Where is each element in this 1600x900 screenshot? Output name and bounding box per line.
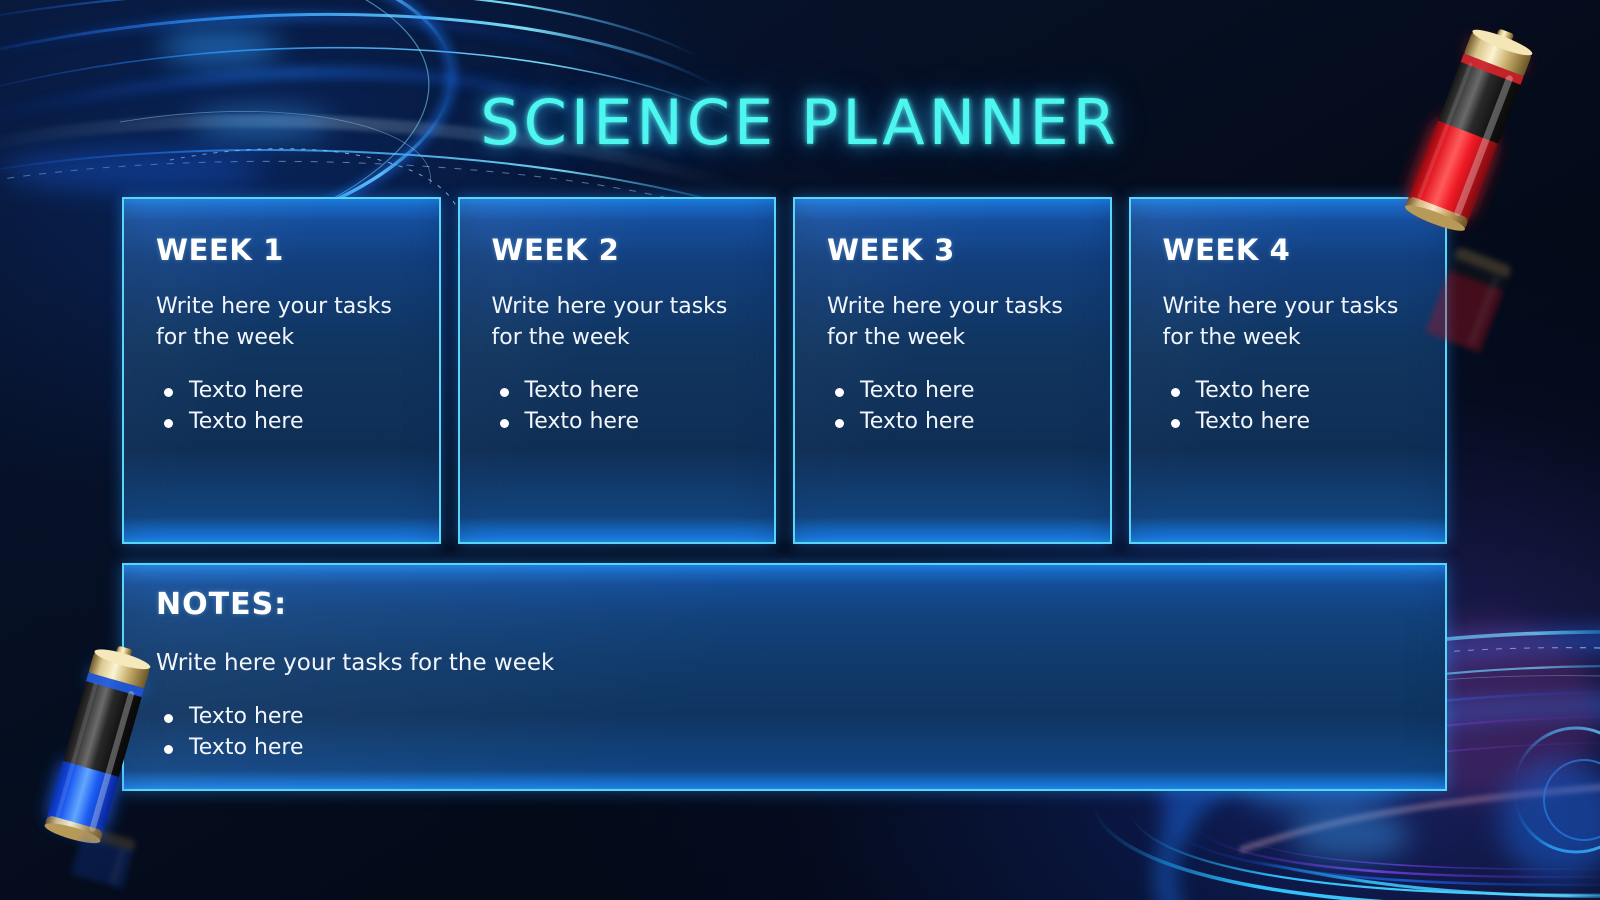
- notes-bullet-list: Texto here Texto here: [156, 701, 1445, 763]
- week-card-1[interactable]: WEEK 1 Write here your tasks for the wee…: [122, 197, 441, 544]
- battery-blue-reflection-icon: [36, 826, 166, 900]
- notes-heading: NOTES:: [156, 587, 1445, 622]
- week-card-bullet-list: Texto here Texto here: [156, 375, 439, 437]
- week-card-bullet-list: Texto here Texto here: [827, 375, 1110, 437]
- list-item[interactable]: Texto here: [156, 375, 439, 406]
- list-item[interactable]: Texto here: [156, 406, 439, 437]
- week-card-2[interactable]: WEEK 2 Write here your tasks for the wee…: [458, 197, 777, 544]
- list-item[interactable]: Texto here: [827, 375, 1110, 406]
- week-cards-row: WEEK 1 Write here your tasks for the wee…: [122, 197, 1447, 544]
- list-item[interactable]: Texto here: [827, 406, 1110, 437]
- list-item[interactable]: Texto here: [156, 732, 1445, 763]
- week-card-heading: WEEK 2: [492, 233, 775, 267]
- week-card-heading: WEEK 3: [827, 233, 1110, 267]
- week-card-body: Write here your tasks for the week: [827, 291, 1095, 353]
- week-card-4[interactable]: WEEK 4 Write here your tasks for the wee…: [1129, 197, 1448, 544]
- week-card-bullet-list: Texto here Texto here: [1163, 375, 1446, 437]
- slide-canvas: SCIENCE PLANNER WEEK 1 Write here your t…: [0, 0, 1600, 900]
- week-card-heading: WEEK 1: [156, 233, 439, 267]
- list-item[interactable]: Texto here: [1163, 375, 1446, 406]
- list-item[interactable]: Texto here: [156, 701, 1445, 732]
- week-card-body: Write here your tasks for the week: [492, 291, 760, 353]
- week-card-bullet-list: Texto here Texto here: [492, 375, 775, 437]
- list-item[interactable]: Texto here: [492, 375, 775, 406]
- notes-body: Write here your tasks for the week: [156, 648, 1445, 679]
- page-title: SCIENCE PLANNER: [0, 86, 1600, 159]
- week-card-body: Write here your tasks for the week: [1163, 291, 1431, 353]
- week-card-3[interactable]: WEEK 3 Write here your tasks for the wee…: [793, 197, 1112, 544]
- list-item[interactable]: Texto here: [1163, 406, 1446, 437]
- notes-panel[interactable]: NOTES: Write here your tasks for the wee…: [122, 563, 1447, 791]
- week-card-body: Write here your tasks for the week: [156, 291, 424, 353]
- list-item[interactable]: Texto here: [492, 406, 775, 437]
- week-card-heading: WEEK 4: [1163, 233, 1446, 267]
